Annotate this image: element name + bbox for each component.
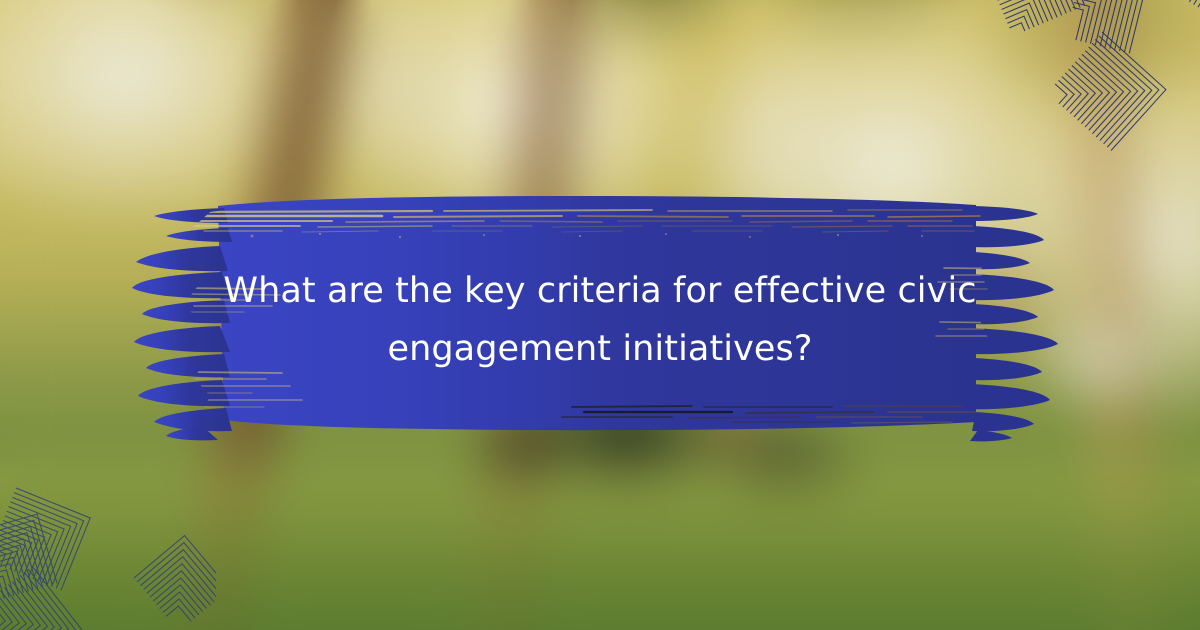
headline-line-1: What are the key criteria for effective … <box>180 262 1020 320</box>
page-title: What are the key criteria for effective … <box>180 262 1020 378</box>
headline-line-2: engagement initiatives? <box>180 320 1020 378</box>
poster-canvas: What are the key criteria for effective … <box>0 0 1200 630</box>
